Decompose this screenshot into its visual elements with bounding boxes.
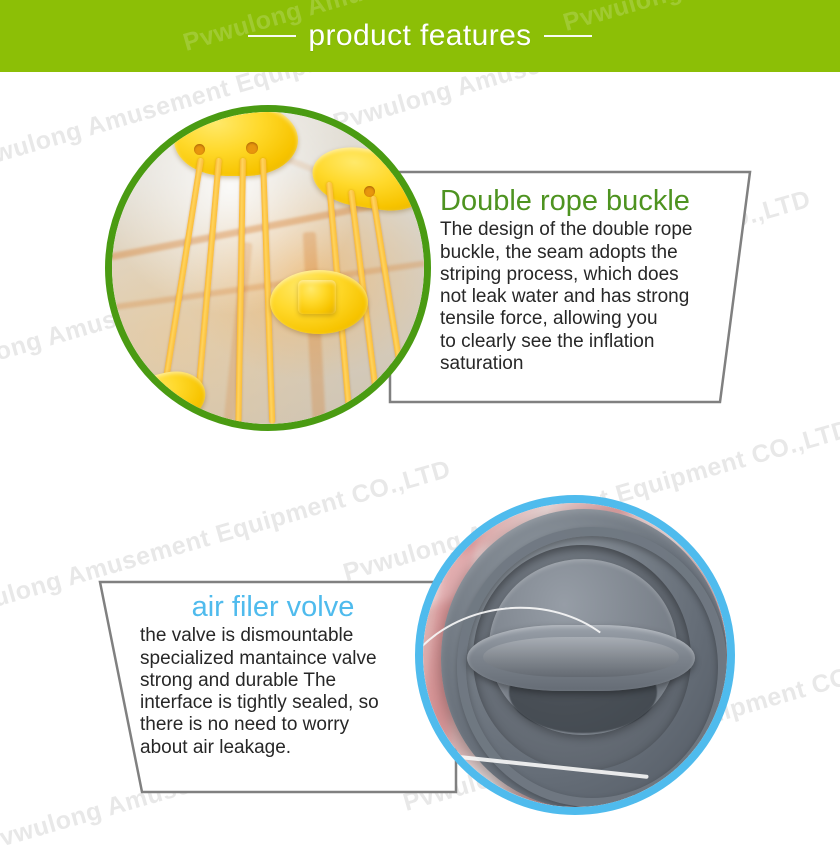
page-title: product features xyxy=(308,19,531,53)
feature-callout-double-rope-buckle: Double rope buckle The design of the dou… xyxy=(388,168,760,416)
feature-body-text: The design of the double rope buckle, th… xyxy=(440,219,740,375)
feature-body-text: the valve is dismountable specialized ma… xyxy=(120,625,412,758)
feature-heading: Double rope buckle xyxy=(440,186,740,216)
buckle-photo xyxy=(112,112,424,424)
page-header: Pvwulong Amusement Equipment CO.,LTD Pvw… xyxy=(0,0,840,72)
header-rule-left xyxy=(248,35,296,37)
feature-image-double-rope-buckle xyxy=(105,105,431,431)
feature-heading: air filer volve xyxy=(120,592,412,622)
product-features-page: Pvwulong Amusement Equipment CO.,LTD Pvw… xyxy=(0,0,840,846)
feature-image-air-filer-volve xyxy=(415,495,735,815)
valve-photo xyxy=(423,503,727,807)
header-rule-right xyxy=(544,35,592,37)
feature-callout-air-filer-volve: air filer volve the valve is dismountabl… xyxy=(86,578,458,806)
